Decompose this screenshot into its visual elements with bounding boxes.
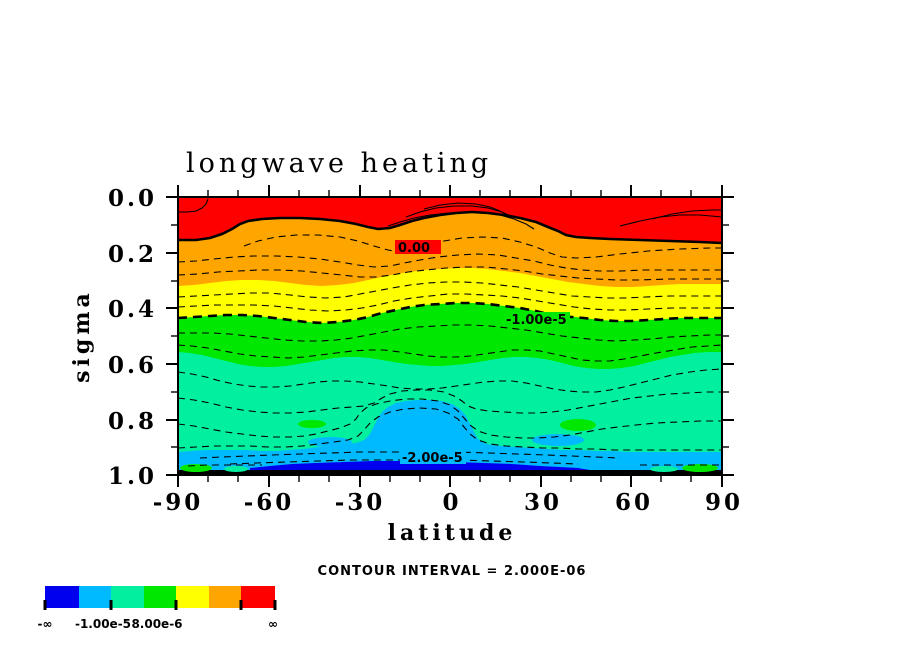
- legend-swatch-3: [144, 586, 176, 608]
- legend-label-high: 8.00e-6: [131, 617, 182, 631]
- green-pocket-left: [298, 420, 326, 428]
- x-tick-label-0: -90: [153, 489, 204, 516]
- legend-swatch-5: [209, 586, 241, 608]
- cyan-pocket-left: [308, 437, 352, 447]
- contour-interval-caption: CONTOUR INTERVAL = 2.000E-06: [318, 564, 587, 579]
- x-tick-label-1: -60: [244, 489, 295, 516]
- y-tick-label-4: 0.8: [108, 408, 157, 435]
- y-axis-title: sigma: [69, 289, 95, 383]
- legend-label-max: ∞: [268, 617, 278, 631]
- legend-swatch-4: [176, 586, 209, 608]
- page-title: longwave heating: [186, 148, 492, 179]
- x-tick-label-6: 90: [705, 489, 743, 516]
- longwave-heating-contour-figure: longwave heating: [0, 0, 904, 654]
- contour-label-minus-2e5: -2.00e-5: [402, 451, 463, 466]
- x-axis-title: latitude: [388, 520, 517, 546]
- x-tick-label-4: 30: [524, 489, 562, 516]
- cyan-pocket-right: [532, 434, 584, 446]
- contour-label-minus-1e5: -1.00e-5: [506, 313, 567, 328]
- x-tick-label-3: 0: [442, 489, 461, 516]
- plot-area: 0.00 -1.00e-5 -2.00e-5: [166, 185, 734, 487]
- surface-speckle-left2: [224, 466, 248, 472]
- y-tick-label-5: 1.0: [108, 463, 157, 490]
- contour-bands: [178, 197, 722, 475]
- legend-swatch-2: [111, 586, 144, 608]
- y-tick-label-2: 0.4: [108, 296, 157, 323]
- legend-label-min: -∞: [38, 617, 53, 631]
- legend-swatch-0: [45, 586, 79, 608]
- legend-label-low: -1.00e-5: [75, 617, 131, 631]
- surface-speckle-left: [180, 464, 212, 472]
- x-tick-label-5: 60: [615, 489, 653, 516]
- green-pocket-right: [560, 419, 596, 431]
- y-tick-label-3: 0.6: [108, 352, 157, 379]
- legend-swatch-1: [79, 586, 111, 608]
- x-tick-label-2: -30: [335, 489, 386, 516]
- legend-swatch-6: [241, 586, 275, 608]
- y-tick-label-1: 0.2: [108, 241, 157, 268]
- surface-speckle-right2: [650, 466, 678, 472]
- y-tick-label-0: 0.0: [108, 185, 157, 212]
- contour-label-zero: 0.00: [398, 241, 430, 256]
